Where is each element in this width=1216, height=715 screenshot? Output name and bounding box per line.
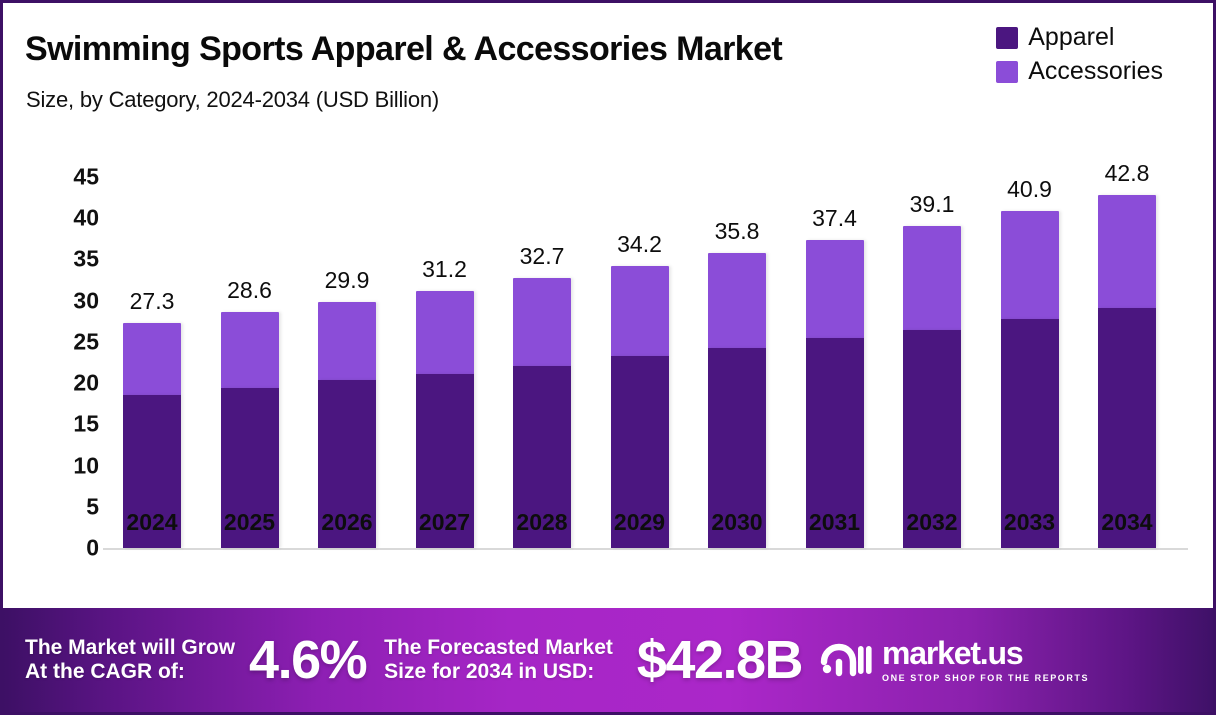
legend-item-label: Apparel — [1028, 25, 1114, 50]
y-axis-tick-10: 10 — [13, 452, 99, 479]
bar-group-2026[interactable]: 29.92026 — [318, 302, 376, 548]
cagr-caption: The Market will Grow At the CAGR of: — [25, 636, 235, 683]
chart-infographic: Swimming Sports Apparel & Accessories Ma… — [0, 0, 1216, 715]
bar-value-label: 31.2 — [422, 256, 467, 283]
market-us-logo[interactable]: market.us ONE STOP SHOP FOR THE REPORTS — [820, 637, 1089, 683]
bar-group-2024[interactable]: 27.32024 — [123, 323, 181, 548]
chart-legend: ApparelAccessories — [996, 25, 1163, 84]
cagr-value: 4.6% — [249, 633, 366, 687]
x-axis-label-2033: 2033 — [1004, 509, 1055, 536]
bar-group-2029[interactable]: 34.22029 — [611, 266, 669, 548]
chart-plot-area: 454035302520151050 27.3202428.6202529.92… — [3, 133, 1213, 608]
bar-group-2030[interactable]: 35.82030 — [708, 253, 766, 548]
forecast-caption: The Forecasted Market Size for 2034 in U… — [384, 636, 613, 683]
bar-group-2027[interactable]: 31.22027 — [416, 291, 474, 548]
bar-segment-accessories[interactable] — [1098, 195, 1156, 308]
bar-value-label: 28.6 — [227, 277, 272, 304]
x-axis-label-2025: 2025 — [224, 509, 275, 536]
bars-container: 27.3202428.6202529.9202631.2202732.72028… — [99, 133, 1213, 608]
x-axis-label-2031: 2031 — [809, 509, 860, 536]
bar-segment-accessories[interactable] — [806, 240, 864, 338]
bar-value-label: 42.8 — [1105, 160, 1150, 187]
chart-subtitle: Size, by Category, 2024-2034 (USD Billio… — [26, 87, 439, 113]
legend-swatch-apparel-icon — [996, 27, 1018, 49]
y-axis-tick-45: 45 — [13, 164, 99, 191]
y-axis-tick-40: 40 — [13, 205, 99, 232]
bar-segment-accessories[interactable] — [123, 323, 181, 395]
bar-value-label: 37.4 — [812, 205, 857, 232]
x-axis-label-2026: 2026 — [321, 509, 372, 536]
bar-value-label: 40.9 — [1007, 176, 1052, 203]
bar-group-2025[interactable]: 28.62025 — [221, 312, 279, 548]
bar-segment-accessories[interactable] — [221, 312, 279, 388]
logo-word: market.us — [882, 637, 1089, 669]
y-axis-tick-15: 15 — [13, 411, 99, 438]
x-axis-label-2028: 2028 — [516, 509, 567, 536]
y-axis-tick-5: 5 — [13, 493, 99, 520]
bar-group-2028[interactable]: 32.72028 — [513, 278, 571, 548]
x-axis-label-2034: 2034 — [1101, 509, 1152, 536]
legend-item-label: Accessories — [1028, 59, 1163, 84]
bar-segment-accessories[interactable] — [416, 291, 474, 374]
bar-value-label: 27.3 — [130, 288, 175, 315]
x-axis-label-2024: 2024 — [126, 509, 177, 536]
y-axis-tick-0: 0 — [13, 535, 99, 562]
y-axis-tick-35: 35 — [13, 246, 99, 273]
forecast-caption-line2: Size for 2034 in USD: — [384, 660, 613, 684]
legend-item-accessories[interactable]: Accessories — [996, 59, 1163, 84]
legend-swatch-accessories-icon — [996, 61, 1018, 83]
bar-segment-accessories[interactable] — [513, 278, 571, 365]
x-axis-label-2032: 2032 — [906, 509, 957, 536]
bar-segment-accessories[interactable] — [708, 253, 766, 348]
x-axis-label-2029: 2029 — [614, 509, 665, 536]
market-us-logomark-icon — [820, 642, 872, 678]
bar-group-2031[interactable]: 37.42031 — [806, 240, 864, 548]
footer-banner: The Market will Grow At the CAGR of: 4.6… — [3, 608, 1213, 712]
forecast-value: $42.8B — [637, 633, 802, 687]
bar-value-label: 32.7 — [520, 243, 565, 270]
logo-tagline: ONE STOP SHOP FOR THE REPORTS — [882, 673, 1089, 683]
bar-segment-accessories[interactable] — [611, 266, 669, 356]
cagr-caption-line2: At the CAGR of: — [25, 660, 235, 684]
bar-group-2032[interactable]: 39.12032 — [903, 226, 961, 548]
y-axis-tick-25: 25 — [13, 328, 99, 355]
page-title: Swimming Sports Apparel & Accessories Ma… — [25, 30, 782, 69]
x-axis-label-2027: 2027 — [419, 509, 470, 536]
bar-segment-accessories[interactable] — [1001, 211, 1059, 319]
bar-value-label: 35.8 — [715, 218, 760, 245]
y-axis: 454035302520151050 — [3, 133, 99, 608]
bar-value-label: 29.9 — [325, 267, 370, 294]
y-axis-tick-30: 30 — [13, 287, 99, 314]
market-us-wordmark: market.us ONE STOP SHOP FOR THE REPORTS — [882, 637, 1089, 683]
bar-group-2034[interactable]: 42.82034 — [1098, 195, 1156, 548]
y-axis-tick-20: 20 — [13, 370, 99, 397]
bar-segment-accessories[interactable] — [318, 302, 376, 380]
bar-value-label: 34.2 — [617, 231, 662, 258]
forecast-caption-line1: The Forecasted Market — [384, 636, 613, 660]
x-axis-label-2030: 2030 — [711, 509, 762, 536]
chart-header: Swimming Sports Apparel & Accessories Ma… — [3, 3, 1213, 133]
bar-segment-accessories[interactable] — [903, 226, 961, 331]
legend-item-apparel[interactable]: Apparel — [996, 25, 1163, 50]
bar-value-label: 39.1 — [910, 191, 955, 218]
bar-group-2033[interactable]: 40.92033 — [1001, 211, 1059, 548]
cagr-caption-line1: The Market will Grow — [25, 636, 235, 660]
